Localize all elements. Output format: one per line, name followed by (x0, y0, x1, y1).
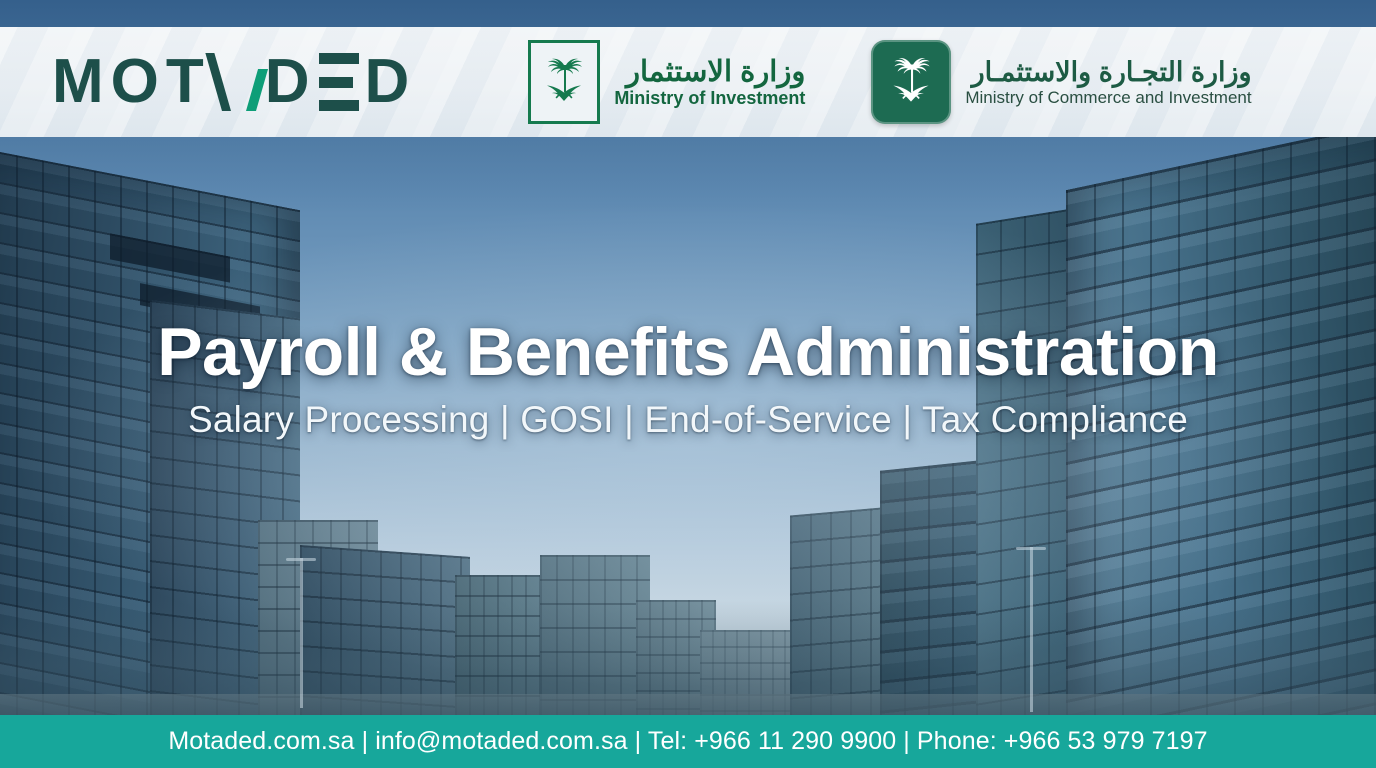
wordmark-letter-e-bars (319, 53, 359, 111)
page-title: Payroll & Benefits Administration (60, 318, 1316, 387)
ministry-of-investment-logo[interactable]: وزارة الاستثمار Ministry of Investment (528, 40, 805, 124)
wordmark-d2: D (365, 51, 417, 113)
motaded-wordmark: MOT D D (52, 51, 416, 113)
page-subtitle: Salary Processing | GOSI | End-of-Servic… (60, 399, 1316, 441)
ministry-of-investment-text: وزارة الاستثمار Ministry of Investment (614, 56, 805, 109)
footer-contact-bar: Motaded.com.sa | info@motaded.com.sa | T… (0, 715, 1376, 768)
header-bar: MOT D D (0, 27, 1376, 137)
ministry-arabic-label: وزارة التجـارة والاستثمـار (965, 57, 1251, 87)
motaded-logo[interactable]: MOT D D (52, 51, 416, 113)
banner-stage: MOT D D (0, 0, 1376, 768)
saudi-emblem-icon (871, 40, 951, 124)
ministry-english-label: Ministry of Investment (614, 88, 805, 108)
wordmark-letter-a-accent (216, 53, 260, 111)
ministry-of-commerce-and-investment-logo[interactable]: وزارة التجـارة والاستثمـار Ministry of C… (871, 40, 1251, 124)
wordmark-mot: MOT (52, 51, 211, 113)
ministry-arabic-label: وزارة الاستثمار (614, 56, 805, 88)
wordmark-d1: D (265, 51, 317, 113)
footer-contact-line[interactable]: Motaded.com.sa | info@motaded.com.sa | T… (168, 727, 1207, 756)
saudi-emblem-icon (528, 40, 600, 124)
hero-text-block: Payroll & Benefits Administration Salary… (0, 318, 1376, 441)
ministry-english-label: Ministry of Commerce and Investment (965, 88, 1251, 107)
ministry-of-commerce-text: وزارة التجـارة والاستثمـار Ministry of C… (965, 57, 1251, 106)
